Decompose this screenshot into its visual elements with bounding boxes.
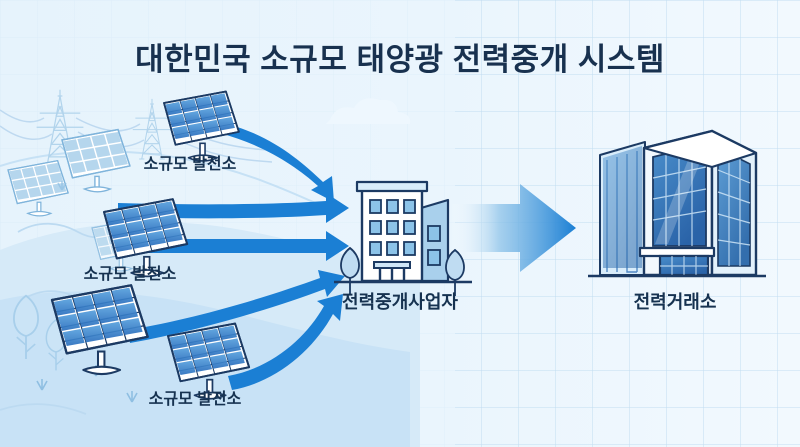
page-title: 대한민국 소규모 태양광 전력중개 시스템 bbox=[0, 34, 800, 79]
infographic-canvas: 대한민국 소규모 태양광 전력중개 시스템 소규모 발전소 소규모 발전소 소규… bbox=[0, 0, 800, 447]
label-plant-bottom: 소규모 발전소 bbox=[95, 385, 295, 409]
exchange-building bbox=[588, 131, 766, 276]
label-plant-top: 소규모 발전소 bbox=[95, 150, 285, 174]
label-plant-middle: 소규모 발전소 bbox=[35, 260, 225, 284]
label-exchange: 전력거래소 bbox=[595, 288, 755, 314]
label-broker: 전력중개사업자 bbox=[310, 288, 490, 314]
